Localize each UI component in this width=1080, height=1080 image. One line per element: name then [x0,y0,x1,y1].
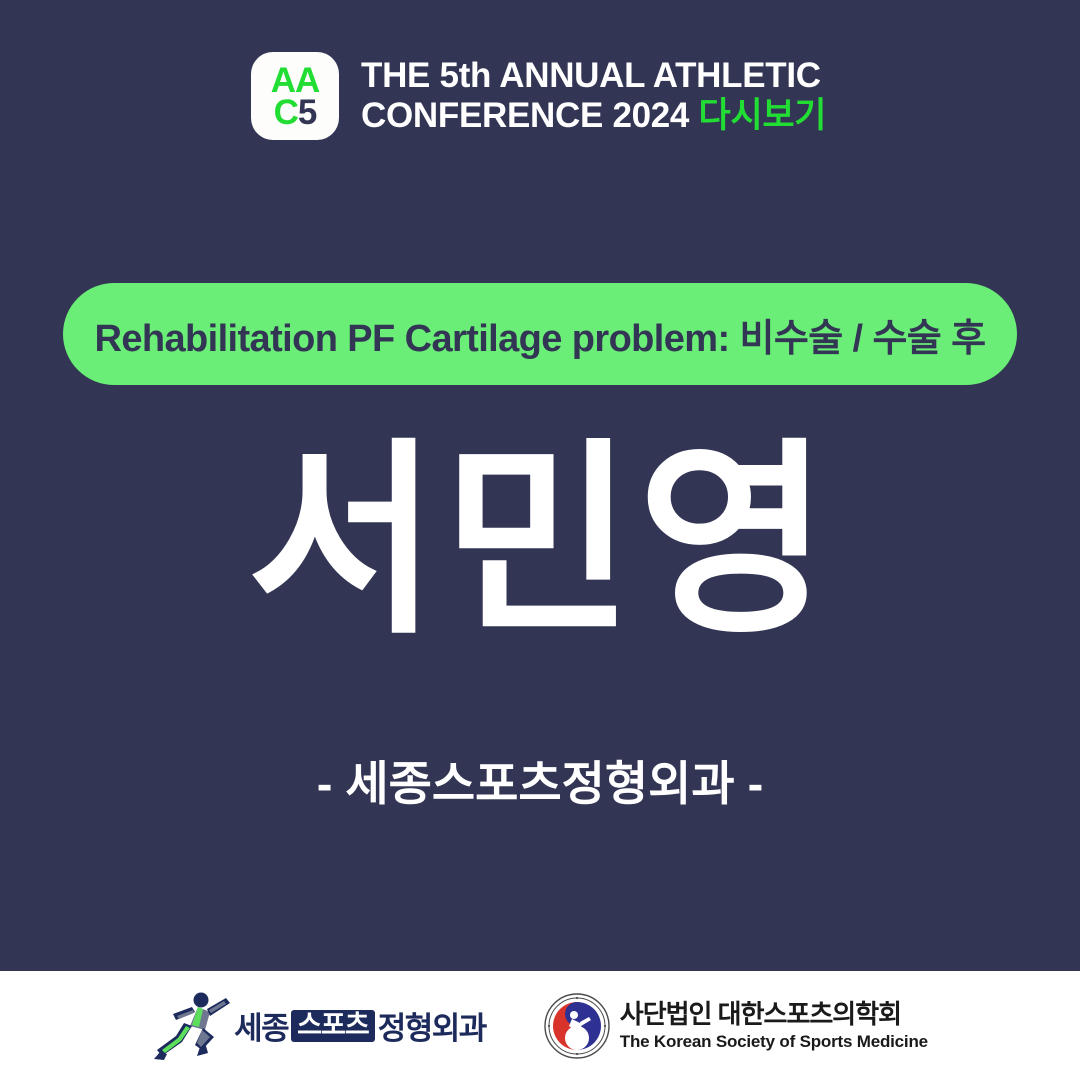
speaker-affiliation: - 세종스포츠정형외과 - [0,745,1080,814]
running-figure-icon [152,990,230,1062]
badge-c-text: C [274,93,298,132]
clinic-wordmark: 세종 스포츠 정형외과 [234,1003,486,1048]
conference-title-line-1: THE 5th ANNUAL ATHLETIC [361,56,826,96]
society-name-korean: 사단법인 대한스포츠의학회 [620,1000,928,1029]
badge-5-text: 5 [298,93,316,132]
society-logo: 사단법인 대한스포츠의학회 The Korean Society of Spor… [544,993,928,1059]
society-circular-emblem-icon [544,993,610,1059]
conference-header: AA C5 THE 5th ANNUAL ATHLETIC CONFERENCE… [251,52,826,140]
badge-c5-row: C5 [274,97,317,129]
conference-title-line-2: CONFERENCE 2024 다시보기 [361,96,826,136]
clinic-word-sports-boxed: 스포츠 [291,1010,375,1042]
session-topic-pill: Rehabilitation PF Cartilage problem: 비수술… [63,283,1017,385]
society-name-english: The Korean Society of Sports Medicine [620,1032,928,1051]
main-navy-panel: AA C5 THE 5th ANNUAL ATHLETIC CONFERENCE… [0,0,1080,971]
clinic-logo: 세종 스포츠 정형외과 [152,990,486,1062]
session-topic-label: Rehabilitation PF Cartilage problem: 비수술… [95,307,986,362]
aac5-logo-badge: AA C5 [251,52,339,140]
clinic-word-sejong: 세종 [234,1003,288,1048]
replay-label: 다시보기 [699,96,827,135]
conference-speaker-card: AA C5 THE 5th ANNUAL ATHLETIC CONFERENCE… [0,0,1080,1080]
society-wordmark: 사단법인 대한스포츠의학회 The Korean Society of Spor… [620,1000,928,1050]
clinic-word-orthopedics: 정형외과 [378,1003,486,1048]
conference-title-block: THE 5th ANNUAL ATHLETIC CONFERENCE 2024 … [361,56,826,135]
conference-title-line-2-text: CONFERENCE 2024 [361,96,689,135]
speaker-name: 서민영 [0,430,1080,655]
footer-logo-bar: 세종 스포츠 정형외과 [0,971,1080,1080]
